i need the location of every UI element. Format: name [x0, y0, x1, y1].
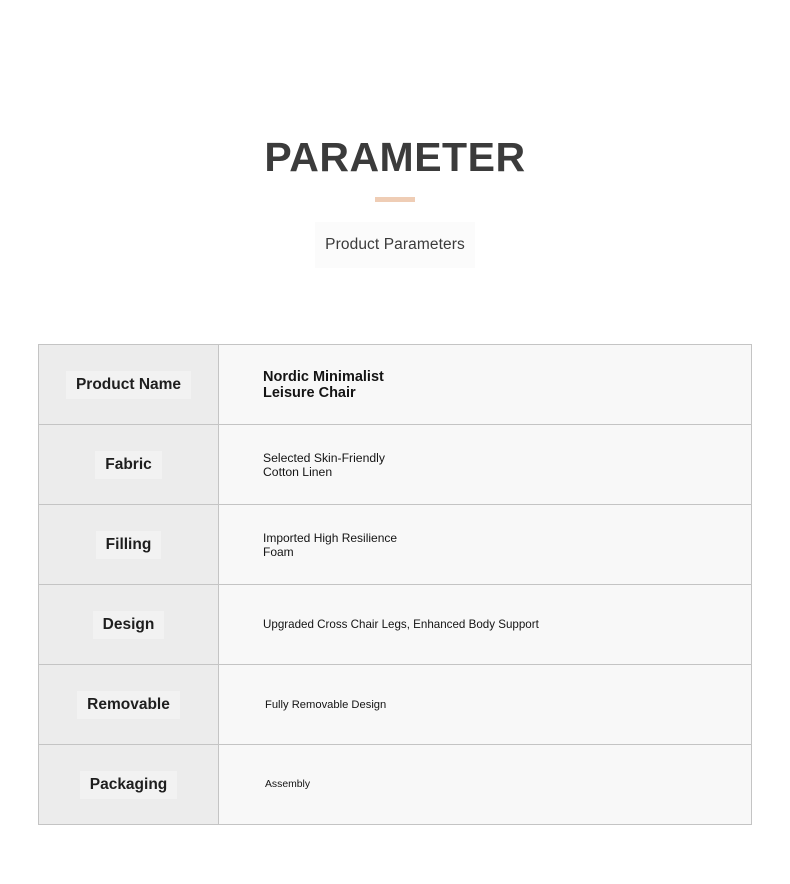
- param-label: Filling: [96, 531, 162, 559]
- param-label: Packaging: [80, 771, 178, 799]
- parameter-table-body: Product Name Nordic Minimalist Leisure C…: [39, 345, 752, 825]
- page-subtitle: Product Parameters: [325, 235, 465, 255]
- param-value: Imported High Resilience Foam: [219, 531, 751, 559]
- param-value-cell: Nordic Minimalist Leisure Chair: [219, 345, 752, 425]
- page-title: PARAMETER: [0, 0, 790, 183]
- table-row: Filling Imported High Resilience Foam: [39, 505, 752, 585]
- accent-divider: [375, 197, 415, 202]
- param-label: Design: [93, 611, 165, 639]
- param-value-cell: Fully Removable Design: [219, 665, 752, 745]
- param-label-cell: Filling: [39, 505, 219, 585]
- table-row: Product Name Nordic Minimalist Leisure C…: [39, 345, 752, 425]
- param-value: Selected Skin-Friendly Cotton Linen: [219, 451, 751, 479]
- param-label: Product Name: [66, 371, 191, 399]
- param-label: Fabric: [95, 451, 162, 479]
- param-label-cell: Product Name: [39, 345, 219, 425]
- param-value-cell: Assembly: [219, 745, 752, 825]
- param-label-cell: Removable: [39, 665, 219, 745]
- param-value: Fully Removable Design: [219, 698, 751, 712]
- param-value-cell: Selected Skin-Friendly Cotton Linen: [219, 425, 752, 505]
- table-row: Packaging Assembly: [39, 745, 752, 825]
- table-row: Fabric Selected Skin-Friendly Cotton Lin…: [39, 425, 752, 505]
- parameter-page: PARAMETER Product Parameters Product Nam…: [0, 0, 790, 884]
- parameter-table: Product Name Nordic Minimalist Leisure C…: [38, 344, 752, 825]
- param-value-cell: Imported High Resilience Foam: [219, 505, 752, 585]
- param-value: Assembly: [219, 778, 751, 791]
- param-label: Removable: [77, 691, 180, 719]
- subtitle-container: Product Parameters: [315, 222, 475, 268]
- table-row: Removable Fully Removable Design: [39, 665, 752, 745]
- table-row: Design Upgraded Cross Chair Legs, Enhanc…: [39, 585, 752, 665]
- param-label-cell: Packaging: [39, 745, 219, 825]
- page-header: PARAMETER Product Parameters: [0, 0, 790, 268]
- param-label-cell: Fabric: [39, 425, 219, 505]
- param-label-cell: Design: [39, 585, 219, 665]
- param-value: Upgraded Cross Chair Legs, Enhanced Body…: [219, 618, 751, 632]
- param-value: Nordic Minimalist Leisure Chair: [219, 369, 751, 401]
- param-value-cell: Upgraded Cross Chair Legs, Enhanced Body…: [219, 585, 752, 665]
